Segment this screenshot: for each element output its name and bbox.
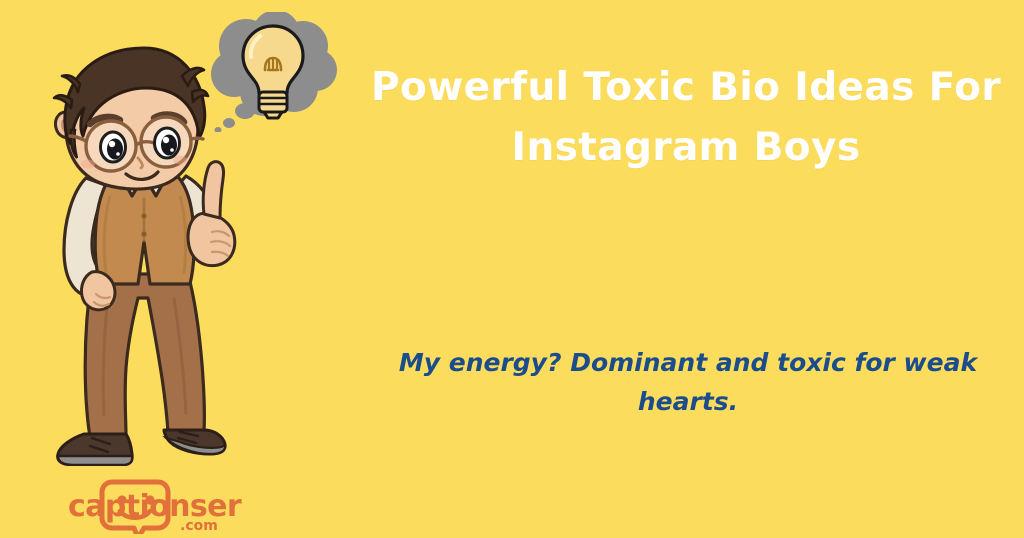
left-hand	[81, 272, 114, 310]
shoes	[58, 430, 226, 465]
page-title: Powerful Toxic Bio Ideas For Instagram B…	[352, 58, 1020, 179]
title-line-2: Instagram Boys	[352, 118, 1020, 178]
logo-tld: .com	[180, 518, 218, 534]
bio-quote-text: My energy? Dominant and toxic for weak h…	[362, 344, 1014, 422]
site-logo[interactable]: captionser .com	[68, 478, 248, 534]
title-line-1: Powerful Toxic Bio Ideas For	[352, 58, 1020, 118]
cartoon-boy-illustration	[14, 46, 274, 466]
poster-canvas: Powerful Toxic Bio Ideas For Instagram B…	[0, 0, 1024, 538]
